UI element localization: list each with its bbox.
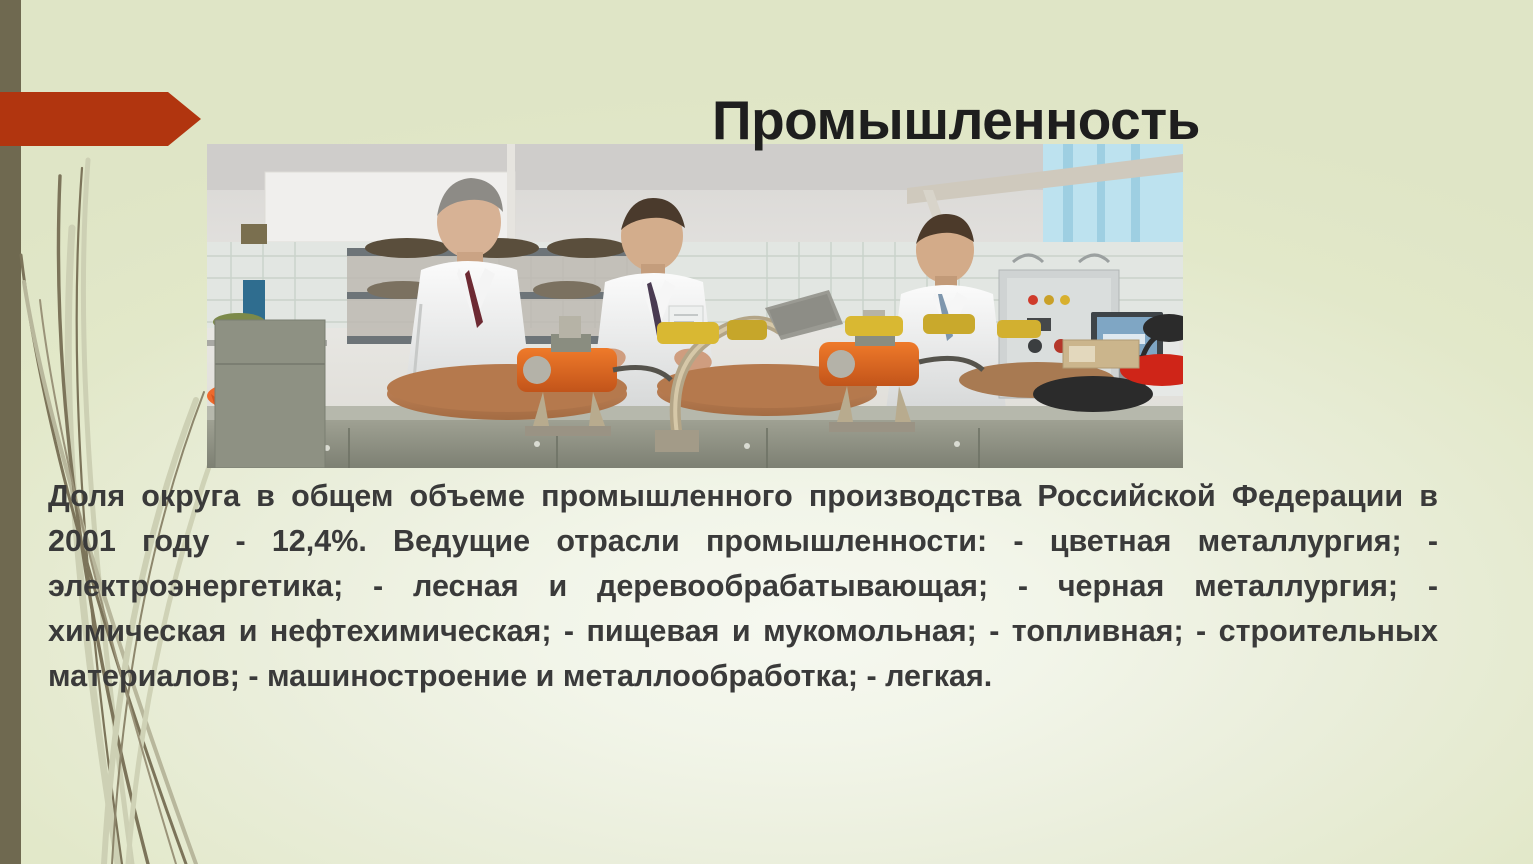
chevron-banner-icon [0, 92, 201, 146]
factory-workshop-photo [207, 144, 1183, 468]
page-title: Промышленность [330, 88, 1200, 152]
presentation-slide: Промышленность [0, 0, 1533, 864]
slide-body-text: Доля округа в общем объеме промышленного… [48, 474, 1438, 699]
slide-photo [207, 144, 1183, 468]
body-paragraph: Доля округа в общем объеме промышленного… [48, 479, 1438, 693]
